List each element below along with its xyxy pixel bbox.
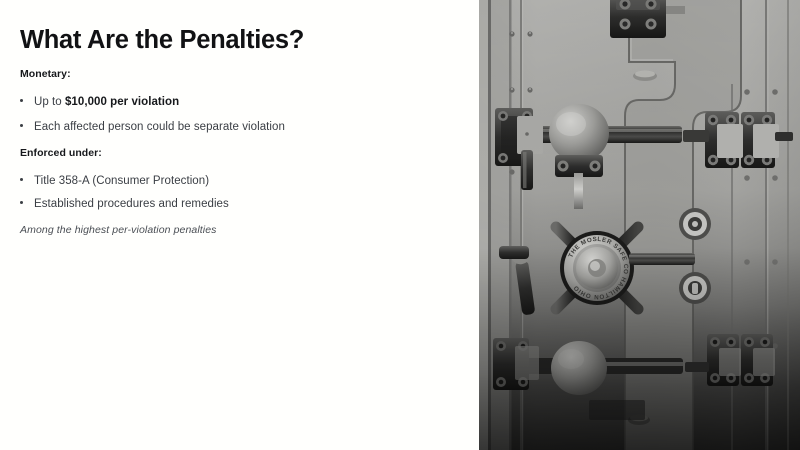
section-heading-enforced: Enforced under: bbox=[20, 147, 102, 159]
bullet-text: Up to $10,000 per violation bbox=[34, 95, 179, 110]
bullet-dot-icon bbox=[20, 201, 23, 204]
list-item: Each affected person could be separate v… bbox=[20, 120, 285, 135]
bullet-text: Title 358-A (Consumer Protection) bbox=[34, 174, 209, 189]
bullet-text: Each affected person could be separate v… bbox=[34, 120, 285, 135]
bullet-text-plain: Up to bbox=[34, 96, 65, 108]
bullet-dot-icon bbox=[20, 124, 23, 127]
list-item: Title 358-A (Consumer Protection) bbox=[20, 174, 209, 189]
bullet-dot-icon bbox=[20, 178, 23, 181]
bank-vault-door-photo: THE MOSLER SAFE CO HAMILTON OHIO bbox=[479, 0, 800, 450]
footnote-text: Among the highest per-violation penaltie… bbox=[20, 224, 217, 236]
section-heading-monetary: Monetary: bbox=[20, 68, 71, 80]
list-item: Established procedures and remedies bbox=[20, 197, 229, 212]
bullet-dot-icon bbox=[20, 99, 23, 102]
bullet-text: Established procedures and remedies bbox=[34, 197, 229, 212]
page-title: What Are the Penalties? bbox=[20, 26, 304, 54]
bullet-text-strong: $10,000 per violation bbox=[65, 96, 179, 108]
list-item: Up to $10,000 per violation bbox=[20, 95, 179, 110]
text-panel: What Are the Penalties? Monetary: Up to … bbox=[0, 0, 479, 450]
slide-root: What Are the Penalties? Monetary: Up to … bbox=[0, 0, 800, 450]
vault-door-illustration: THE MOSLER SAFE CO HAMILTON OHIO bbox=[479, 0, 800, 450]
